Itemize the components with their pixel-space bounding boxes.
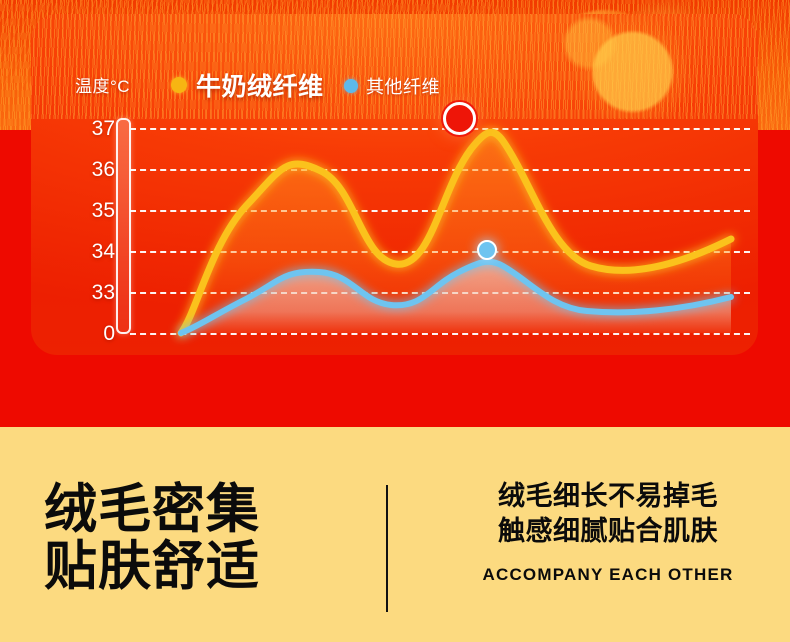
vertical-divider [386, 485, 388, 612]
subheadline-block: 绒毛细长不易掉毛 触感细腻贴合肌肤 ACCOMPANY EACH OTHER [458, 479, 758, 585]
english-tagline: ACCOMPANY EACH OTHER [458, 565, 758, 585]
promo-page: 温度°C 牛奶绒纤维 其他纤维 37 36 35 34 3 [0, 0, 790, 642]
subheadline-line-1: 绒毛细长不易掉毛 [458, 479, 758, 514]
temperature-chart-card: 温度°C 牛奶绒纤维 其他纤维 37 36 35 34 3 [31, 14, 758, 355]
headline-block: 绒毛密集 贴肤舒适 [44, 482, 364, 595]
subheadline-line-2: 触感细腻贴合肌肤 [458, 514, 758, 549]
headline-line-1: 绒毛密集 [44, 482, 364, 539]
chart-curves-svg [31, 14, 758, 355]
red-hero-band: 温度°C 牛奶绒纤维 其他纤维 37 36 35 34 3 [0, 0, 790, 427]
data-marker-other-fiber-peak[interactable] [477, 240, 497, 260]
data-marker-milk-fiber-peak[interactable] [443, 102, 476, 135]
chart-plot-area: 37 36 35 34 33 0 [31, 14, 758, 355]
yellow-caption-band: 绒毛密集 贴肤舒适 绒毛细长不易掉毛 触感细腻贴合肌肤 ACCOMPANY EA… [0, 427, 790, 642]
headline-line-2: 贴肤舒适 [44, 539, 364, 596]
